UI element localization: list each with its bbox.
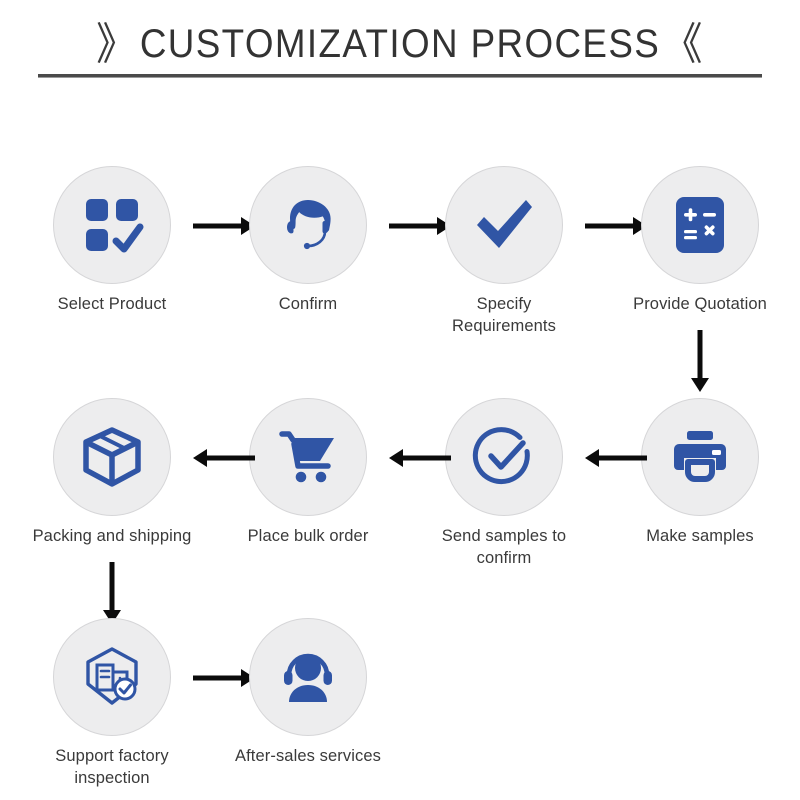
headset-agent-icon xyxy=(276,193,340,257)
connector-arrow-left xyxy=(193,438,255,478)
package-box-icon xyxy=(80,426,144,488)
step-icon-circle xyxy=(53,398,171,516)
step-node-after-sales-services[interactable]: After-sales services xyxy=(228,618,388,768)
step-node-packing-and-shipping[interactable]: Packing and shipping xyxy=(32,398,192,548)
step-label: Make samples xyxy=(620,526,780,548)
step-icon-circle xyxy=(641,398,759,516)
step-node-support-factory-inspection[interactable]: Support factory inspection xyxy=(32,618,192,790)
calculator-icon xyxy=(670,193,730,257)
connector-arrow-left xyxy=(585,438,647,478)
step-label: Support factory inspection xyxy=(32,746,192,790)
step-icon-circle xyxy=(249,166,367,284)
step-node-send-samples-to-confirm[interactable]: Send samples to confirm xyxy=(424,398,584,570)
connector-arrow-left xyxy=(389,438,451,478)
circle-check-icon xyxy=(472,425,536,489)
step-label: Confirm xyxy=(228,294,388,316)
step-icon-circle xyxy=(641,166,759,284)
step-label: Place bulk order xyxy=(228,526,388,548)
step-icon-circle xyxy=(249,398,367,516)
connector-arrow-down xyxy=(680,330,720,392)
step-label: Send samples to confirm xyxy=(424,526,584,570)
step-icon-circle xyxy=(53,166,171,284)
printer-icon xyxy=(668,428,732,486)
shopping-cart-icon xyxy=(276,428,340,486)
checkmark-icon xyxy=(471,192,537,258)
step-label: Packing and shipping xyxy=(32,526,192,548)
step-label: Select Product xyxy=(32,294,192,316)
step-node-confirm[interactable]: Confirm xyxy=(228,166,388,316)
step-icon-circle xyxy=(53,618,171,736)
step-icon-circle xyxy=(249,618,367,736)
customer-support-icon xyxy=(276,647,340,707)
step-label: Specify Requirements xyxy=(424,294,584,338)
step-node-specify-requirements[interactable]: Specify Requirements xyxy=(424,166,584,338)
step-label: After-sales services xyxy=(228,746,388,768)
step-node-provide-quotation[interactable]: Provide Quotation xyxy=(620,166,780,316)
process-flow-diagram: Select Product Confirm xyxy=(0,0,800,800)
connector-arrow-down xyxy=(92,562,132,624)
step-label: Provide Quotation xyxy=(620,294,780,316)
factory-shield-check-icon xyxy=(80,645,144,709)
grid-check-icon xyxy=(80,193,144,257)
step-node-select-product[interactable]: Select Product xyxy=(32,166,192,316)
step-icon-circle xyxy=(445,398,563,516)
step-icon-circle xyxy=(445,166,563,284)
